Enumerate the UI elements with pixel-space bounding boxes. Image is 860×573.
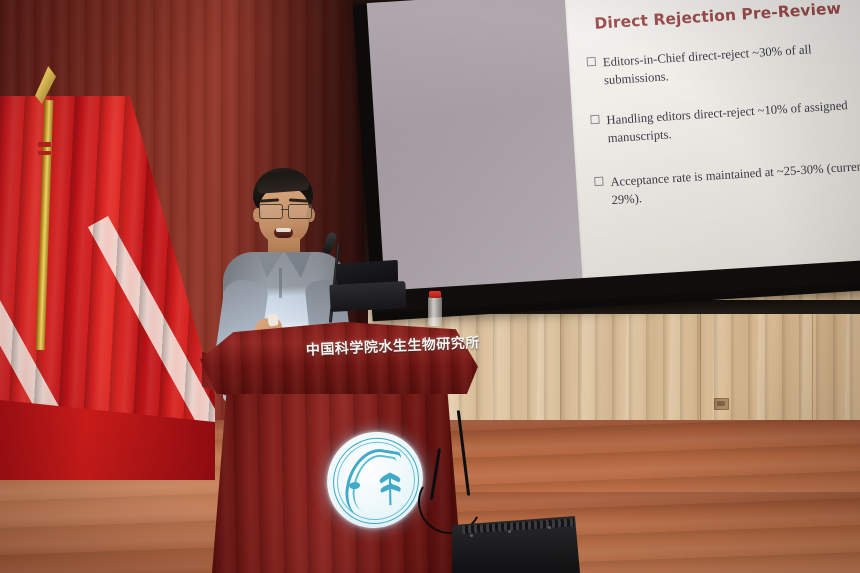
- hair-fringe: [256, 170, 309, 194]
- slide-title: Direct Rejection Pre-Review: [594, 0, 860, 33]
- checkbox-bullet-icon: [594, 177, 604, 187]
- glasses-bridge: [281, 209, 289, 210]
- shirt-placket: [279, 268, 282, 298]
- water-bottle: [428, 296, 442, 326]
- held-object: [267, 313, 279, 326]
- flagpole-ring: [38, 151, 51, 155]
- slide-bullet-text: Handling editors direct-reject ~10% of a…: [606, 95, 860, 148]
- presentation-slide: Direct Rejection Pre-Review Editors-in-C…: [565, 0, 860, 290]
- leaf: [388, 472, 402, 482]
- slide-bullet: Acceptance rate is maintained at ~25-30%…: [594, 157, 860, 211]
- checkbox-bullet-icon: [590, 115, 600, 125]
- monitor-screw: [508, 530, 511, 533]
- screen-surface: Direct Rejection Pre-Review Editors-in-C…: [367, 0, 860, 303]
- glasses-lens-left: [259, 204, 283, 219]
- screen-dim-region: [367, 0, 585, 303]
- presentation-photo-scene: Direct Rejection Pre-Review Editors-in-C…: [0, 0, 860, 573]
- slide-bullet-text: Acceptance rate is maintained at ~25-30%…: [610, 157, 860, 210]
- slide-bullet-text: Editors-in-Chief direct-reject ~30% of a…: [602, 38, 860, 91]
- glasses-icon: [257, 204, 313, 217]
- bottle-cap: [429, 291, 441, 298]
- monitor-screw: [470, 534, 473, 537]
- leaf: [388, 483, 402, 492]
- checkbox-bullet-icon: [587, 57, 597, 67]
- flagpole-ring: [38, 142, 51, 147]
- glasses-lens-right: [288, 204, 312, 219]
- slide-bullet: Editors-in-Chief direct-reject ~30% of a…: [586, 38, 860, 92]
- teeth: [276, 228, 291, 232]
- monitor-screw: [548, 526, 551, 529]
- slide-bullet: Handling editors direct-reject ~10% of a…: [590, 95, 860, 149]
- projection-screen: Direct Rejection Pre-Review Editors-in-C…: [352, 0, 860, 321]
- plant-icon: [379, 467, 402, 506]
- laptop: [329, 281, 406, 312]
